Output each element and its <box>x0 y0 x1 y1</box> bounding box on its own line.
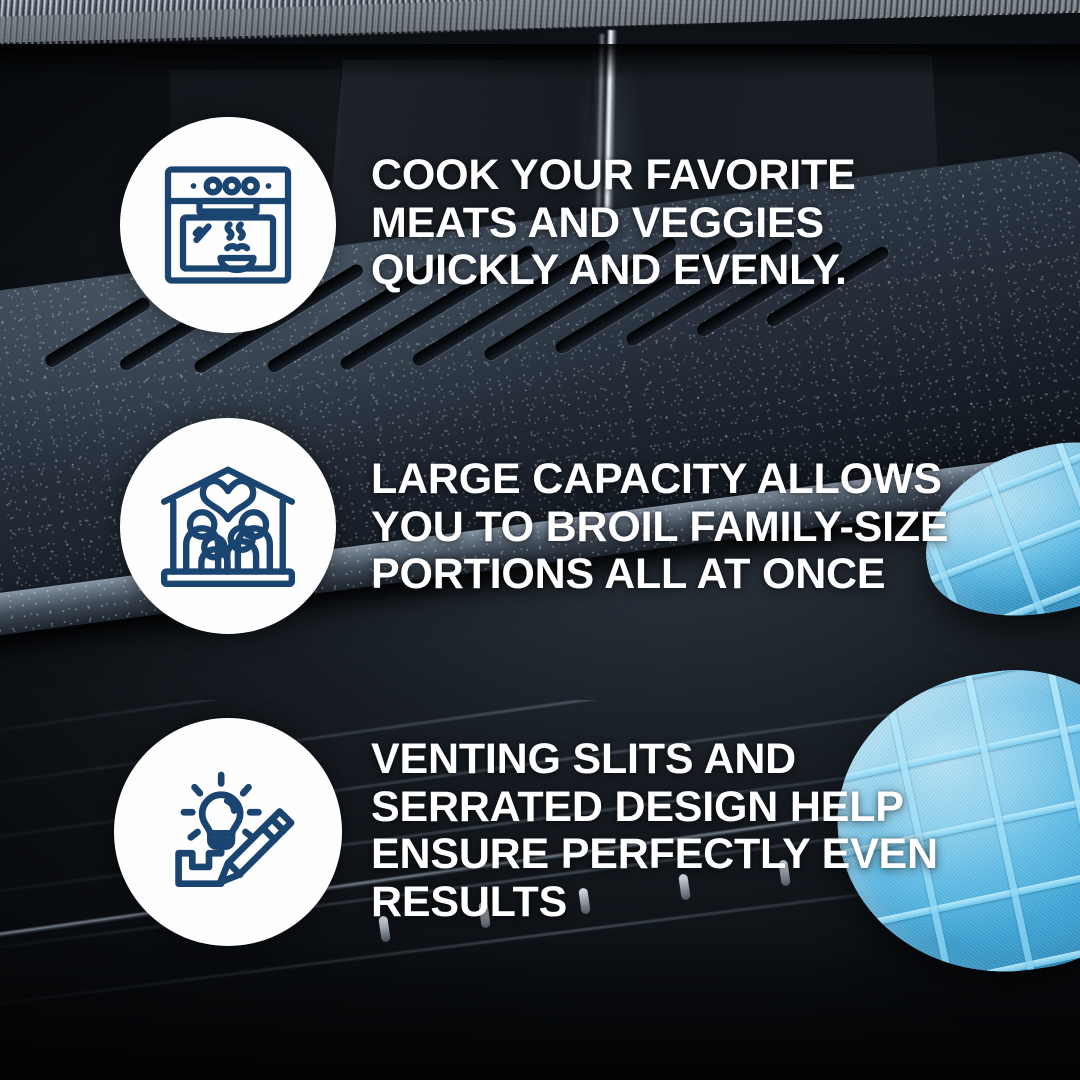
feature-badge-large-capacity <box>120 418 336 634</box>
feature-badge-cook-quickly-evenly <box>120 117 336 333</box>
feature-text-venting-slits-design: VENTING SLITS AND SERRATED DESIGN HELP E… <box>371 736 971 926</box>
lightbulb-pencil-design-icon <box>152 756 304 908</box>
family-house-heart-icon <box>152 450 304 602</box>
feature-text-large-capacity: LARGE CAPACITY ALLOWS YOU TO BROIL FAMIL… <box>371 456 971 599</box>
oven-with-hot-bowl-icon <box>153 150 303 300</box>
infographic-canvas: COOK YOUR FAVORITE MEATS AND VEGGIES QUI… <box>0 0 1080 1080</box>
feature-badge-venting-slits-design <box>114 718 342 946</box>
feature-text-cook-quickly-evenly: COOK YOUR FAVORITE MEATS AND VEGGIES QUI… <box>371 152 931 295</box>
feature-list: COOK YOUR FAVORITE MEATS AND VEGGIES QUI… <box>0 0 1080 1080</box>
